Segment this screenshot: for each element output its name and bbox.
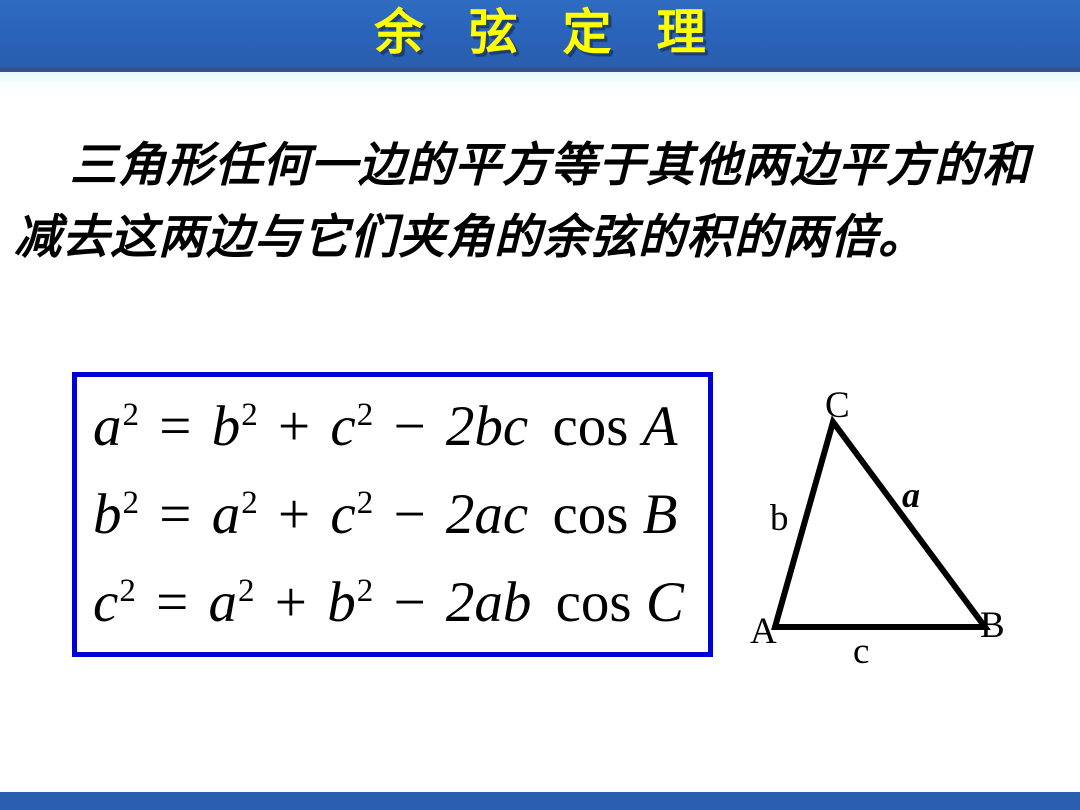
formula-row-b: b2 = a2 + c2 − 2ac cos B xyxy=(93,471,708,559)
formula-coefficient: 2 xyxy=(446,483,475,546)
formula-equals: = xyxy=(150,571,194,634)
formula-term1-var: a xyxy=(209,571,238,634)
formula-term1-exponent: 2 xyxy=(237,573,255,609)
formula-equals: = xyxy=(153,395,197,458)
footer-bar xyxy=(0,792,1080,810)
formula-cos-function: cos xyxy=(542,395,628,458)
formula-minus: − xyxy=(387,571,431,634)
formula-term1-var: b xyxy=(212,395,241,458)
formula-term2-exponent: 2 xyxy=(356,397,374,433)
formula-angle: A xyxy=(643,395,678,458)
triangle-side-label-b: b xyxy=(770,500,789,537)
formula-term2-exponent: 2 xyxy=(356,485,374,521)
formula-term2-var: b xyxy=(327,571,356,634)
formula-angle: B xyxy=(643,483,678,546)
theorem-statement: 三角形任何一边的平方等于其他两边平方的和减去这两边与它们夹角的余弦的积的两倍。 xyxy=(14,130,1066,274)
formula-lhs-exponent: 2 xyxy=(118,573,136,609)
formula-lhs-var: a xyxy=(93,395,122,458)
slide-canvas: 余 弦 定 理 三角形任何一边的平方等于其他两边平方的和减去这两边与它们夹角的余… xyxy=(0,0,1080,810)
triangle-vertex-label-c: C xyxy=(825,387,850,424)
title-banner-fade xyxy=(0,72,1080,98)
formula-equals: = xyxy=(153,483,197,546)
formula-lhs-var: b xyxy=(93,483,122,546)
formula-plus: + xyxy=(269,571,313,634)
formula-term2-var: c xyxy=(330,483,355,546)
formula-term2-exponent: 2 xyxy=(356,573,374,609)
formula-list: a2 = b2 + c2 − 2bc cos A b2 = a2 + c2 − … xyxy=(77,377,708,652)
triangle-vertex-label-b: B xyxy=(980,607,1005,644)
formula-plus: + xyxy=(272,395,316,458)
formula-lhs-exponent: 2 xyxy=(122,485,140,521)
formula-product-vars: ab xyxy=(474,571,531,634)
triangle-outline xyxy=(775,422,985,627)
slide-title: 余 弦 定 理 xyxy=(0,2,1080,64)
formula-plus: + xyxy=(272,483,316,546)
formula-minus: − xyxy=(387,483,431,546)
formula-term1-exponent: 2 xyxy=(240,485,258,521)
formula-row-a: a2 = b2 + c2 − 2bc cos A xyxy=(93,383,708,471)
formula-angle: C xyxy=(646,571,684,634)
formula-lhs-var: c xyxy=(93,571,118,634)
formula-lhs-exponent: 2 xyxy=(122,397,140,433)
formula-box: a2 = b2 + c2 − 2bc cos A b2 = a2 + c2 − … xyxy=(72,372,713,657)
formula-cos-function: cos xyxy=(542,483,628,546)
formula-coefficient: 2 xyxy=(446,395,475,458)
triangle-vertex-label-a: A xyxy=(750,613,777,650)
formula-coefficient: 2 xyxy=(446,571,475,634)
triangle-side-label-c: c xyxy=(853,633,869,670)
formula-product-vars: ac xyxy=(474,483,528,546)
formula-term2-var: c xyxy=(330,395,355,458)
triangle-side-label-a: a xyxy=(902,477,920,514)
formula-term1-var: a xyxy=(212,483,241,546)
formula-product-vars: bc xyxy=(474,395,528,458)
formula-row-c: c2 = a2 + b2 − 2ab cos C xyxy=(93,559,708,647)
formula-minus: − xyxy=(387,395,431,458)
triangle-diagram: C A B b c a xyxy=(735,385,1035,675)
formula-term1-exponent: 2 xyxy=(240,397,258,433)
formula-cos-function: cos xyxy=(546,571,632,634)
